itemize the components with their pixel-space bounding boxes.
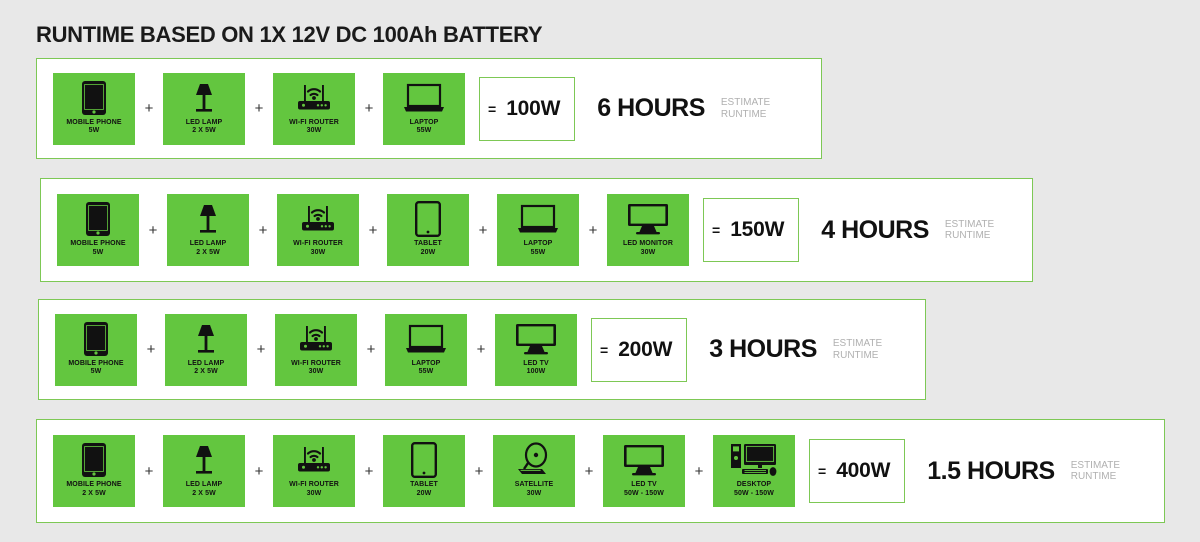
device-wattage-label: 30W	[307, 490, 322, 499]
device-name-label: TABLET	[410, 481, 438, 490]
estimate-caption-line2: RUNTIME	[833, 350, 882, 362]
total-wattage-box: =150W	[703, 198, 799, 262]
estimate-runtime-caption: ESTIMATERUNTIME	[1071, 460, 1120, 483]
plus-separator: +	[245, 100, 273, 117]
satellite-icon	[512, 441, 556, 479]
device-name-label: LAPTOP	[412, 360, 441, 369]
page-title: RUNTIME BASED ON 1X 12V DC 100Ah BATTERY	[36, 22, 542, 48]
total-wattage-value: 100W	[506, 97, 560, 121]
device-name-label: LAPTOP	[524, 240, 553, 249]
total-wattage-value: 200W	[618, 338, 672, 362]
plus-separator: +	[467, 341, 495, 358]
wifi-router-icon	[295, 200, 341, 238]
plus-separator: +	[247, 341, 275, 358]
tablet-icon	[415, 200, 441, 238]
runtime-row: MOBILE PHONE5W+ LED LAMP2 X 5W+ WI-FI RO…	[40, 178, 1033, 282]
plus-separator: +	[359, 222, 387, 239]
device-tile[interactable]: TABLET20W	[387, 194, 469, 266]
device-tile[interactable]: WI-FI ROUTER30W	[275, 314, 357, 386]
row-devices-group: MOBILE PHONE5W+ LED LAMP2 X 5W+ WI-FI RO…	[39, 314, 882, 386]
device-tile[interactable]: MOBILE PHONE5W	[57, 194, 139, 266]
row-devices-group: MOBILE PHONE5W+ LED LAMP2 X 5W+ WI-FI RO…	[37, 73, 770, 145]
plus-separator: +	[579, 222, 607, 239]
row-devices-group: MOBILE PHONE5W+ LED LAMP2 X 5W+ WI-FI RO…	[41, 194, 994, 266]
plus-separator: +	[469, 222, 497, 239]
led-lamp-icon	[188, 200, 228, 238]
device-wattage-label: 2 X 5W	[192, 490, 216, 499]
device-wattage-label: 2 X 5W	[82, 490, 106, 499]
wifi-router-icon	[291, 79, 337, 117]
equals-sign: =	[712, 222, 720, 238]
estimate-caption-line1: ESTIMATE	[833, 338, 882, 350]
device-name-label: LED TV	[523, 360, 549, 369]
equals-sign: =	[818, 463, 826, 479]
device-wattage-label: 50W - 150W	[734, 490, 774, 499]
device-wattage-label: 30W	[311, 249, 326, 258]
device-wattage-label: 30W	[307, 127, 322, 136]
device-wattage-label: 30W	[527, 490, 542, 499]
device-tile[interactable]: SATELLITE30W	[493, 435, 575, 507]
laptop-icon	[402, 79, 446, 117]
device-tile[interactable]: MOBILE PHONE2 X 5W	[53, 435, 135, 507]
total-wattage-box: =100W	[479, 77, 575, 141]
total-wattage-box: =200W	[591, 318, 687, 382]
device-wattage-label: 55W	[531, 249, 546, 258]
plus-separator: +	[139, 222, 167, 239]
estimate-caption-line2: RUNTIME	[721, 109, 770, 121]
plus-separator: +	[465, 463, 493, 480]
wifi-router-icon	[293, 320, 339, 358]
device-name-label: SATELLITE	[515, 481, 554, 490]
device-wattage-label: 100W	[527, 368, 546, 377]
device-tile[interactable]: LAPTOP55W	[497, 194, 579, 266]
estimate-runtime-caption: ESTIMATERUNTIME	[721, 97, 770, 120]
mobile-phone-icon	[83, 320, 109, 358]
device-tile[interactable]: LAPTOP55W	[383, 73, 465, 145]
plus-separator: +	[137, 341, 165, 358]
device-wattage-label: 5W	[89, 127, 100, 136]
plus-separator: +	[249, 222, 277, 239]
device-wattage-label: 20W	[421, 249, 436, 258]
equals-sign: =	[600, 342, 608, 358]
mobile-phone-icon	[81, 79, 107, 117]
runtime-row: MOBILE PHONE5W+ LED LAMP2 X 5W+ WI-FI RO…	[36, 58, 822, 159]
wifi-router-icon	[291, 441, 337, 479]
runtime-hours-value: 4 HOURS	[821, 216, 929, 245]
device-name-label: MOBILE PHONE	[68, 360, 123, 369]
device-tile[interactable]: TABLET20W	[383, 435, 465, 507]
plus-separator: +	[135, 463, 163, 480]
device-tile[interactable]: WI-FI ROUTER30W	[273, 73, 355, 145]
device-name-label: LED LAMP	[186, 119, 223, 128]
device-name-label: WI-FI ROUTER	[289, 481, 339, 490]
device-name-label: DESKTOP	[737, 481, 771, 490]
device-name-label: LED TV	[631, 481, 657, 490]
device-tile[interactable]: WI-FI ROUTER30W	[277, 194, 359, 266]
device-wattage-label: 2 X 5W	[192, 127, 216, 136]
device-name-label: WI-FI ROUTER	[289, 119, 339, 128]
infographic-page: RUNTIME BASED ON 1X 12V DC 100Ah BATTERY…	[0, 0, 1200, 542]
estimate-caption-line2: RUNTIME	[1071, 471, 1120, 483]
mobile-phone-icon	[85, 200, 111, 238]
runtime-row: MOBILE PHONE5W+ LED LAMP2 X 5W+ WI-FI RO…	[38, 299, 926, 400]
device-tile[interactable]: LAPTOP55W	[385, 314, 467, 386]
led-tv-icon	[513, 320, 559, 358]
plus-separator: +	[357, 341, 385, 358]
total-wattage-value: 150W	[730, 218, 784, 242]
laptop-icon	[404, 320, 448, 358]
device-wattage-label: 2 X 5W	[194, 368, 218, 377]
device-wattage-label: 55W	[417, 127, 432, 136]
device-name-label: MOBILE PHONE	[66, 481, 121, 490]
device-tile[interactable]: MOBILE PHONE5W	[55, 314, 137, 386]
plus-separator: +	[575, 463, 603, 480]
device-wattage-label: 5W	[91, 368, 102, 377]
device-tile[interactable]: LED LAMP2 X 5W	[163, 73, 245, 145]
device-tile[interactable]: LED TV50W - 150W	[603, 435, 685, 507]
device-name-label: MOBILE PHONE	[66, 119, 121, 128]
equals-sign: =	[488, 101, 496, 117]
plus-separator: +	[355, 100, 383, 117]
runtime-hours-value: 1.5 HOURS	[927, 457, 1054, 486]
estimate-caption-line1: ESTIMATE	[1071, 460, 1120, 472]
laptop-icon	[516, 200, 560, 238]
device-wattage-label: 30W	[641, 249, 656, 258]
total-wattage-box: =400W	[809, 439, 905, 503]
device-wattage-label: 50W - 150W	[624, 490, 664, 499]
desktop-icon	[728, 441, 780, 479]
device-tile[interactable]: LED MONITOR30W	[607, 194, 689, 266]
estimate-runtime-caption: ESTIMATERUNTIME	[833, 338, 882, 361]
mobile-phone-icon	[81, 441, 107, 479]
device-name-label: MOBILE PHONE	[70, 240, 125, 249]
device-tile[interactable]: MOBILE PHONE5W	[53, 73, 135, 145]
plus-separator: +	[685, 463, 713, 480]
device-tile[interactable]: LED LAMP2 X 5W	[165, 314, 247, 386]
plus-separator: +	[355, 463, 383, 480]
estimate-caption-line1: ESTIMATE	[945, 219, 994, 231]
runtime-hours-value: 3 HOURS	[709, 335, 817, 364]
device-tile[interactable]: LED LAMP2 X 5W	[163, 435, 245, 507]
device-tile[interactable]: LED TV100W	[495, 314, 577, 386]
device-tile[interactable]: WI-FI ROUTER30W	[273, 435, 355, 507]
runtime-row: MOBILE PHONE2 X 5W+ LED LAMP2 X 5W+ WI-F…	[36, 419, 1165, 523]
device-wattage-label: 2 X 5W	[196, 249, 220, 258]
device-name-label: LED LAMP	[190, 240, 227, 249]
led-monitor-icon	[625, 200, 671, 238]
device-tile[interactable]: DESKTOP50W - 150W	[713, 435, 795, 507]
plus-separator: +	[135, 100, 163, 117]
device-wattage-label: 5W	[93, 249, 104, 258]
device-name-label: LED MONITOR	[623, 240, 673, 249]
runtime-hours-value: 6 HOURS	[597, 94, 705, 123]
device-name-label: LED LAMP	[188, 360, 225, 369]
tablet-icon	[411, 441, 437, 479]
device-name-label: WI-FI ROUTER	[291, 360, 341, 369]
estimate-runtime-caption: ESTIMATERUNTIME	[945, 219, 994, 242]
device-name-label: LAPTOP	[410, 119, 439, 128]
led-tv-icon	[621, 441, 667, 479]
led-lamp-icon	[184, 441, 224, 479]
device-name-label: WI-FI ROUTER	[293, 240, 343, 249]
device-wattage-label: 30W	[309, 368, 324, 377]
device-wattage-label: 20W	[417, 490, 432, 499]
estimate-caption-line2: RUNTIME	[945, 230, 994, 242]
estimate-caption-line1: ESTIMATE	[721, 97, 770, 109]
device-tile[interactable]: LED LAMP2 X 5W	[167, 194, 249, 266]
led-lamp-icon	[184, 79, 224, 117]
led-lamp-icon	[186, 320, 226, 358]
device-wattage-label: 55W	[419, 368, 434, 377]
device-name-label: TABLET	[414, 240, 442, 249]
device-name-label: LED LAMP	[186, 481, 223, 490]
row-devices-group: MOBILE PHONE2 X 5W+ LED LAMP2 X 5W+ WI-F…	[37, 435, 1120, 507]
plus-separator: +	[245, 463, 273, 480]
total-wattage-value: 400W	[836, 459, 890, 483]
